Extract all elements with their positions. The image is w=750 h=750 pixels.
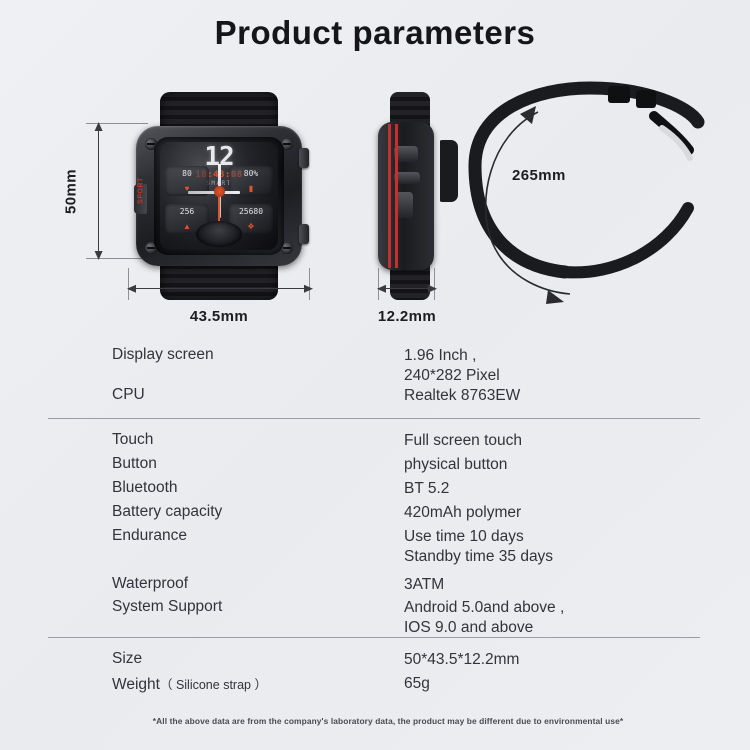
watch-case: SPORT 12 18:48:08 SMART 80 ♥ 80% ▮ [136,126,302,266]
dim-arrows-height [92,120,106,262]
spec-value: BT 5.2 [404,479,449,499]
spec-value: Realtek 8763EW [404,386,520,406]
spec-value: 1.96 Inch , 240*282 Pixel [404,346,500,387]
spec-label: Button [112,455,157,473]
product-illustration: 50mm SPORT 12 18:48:08 SMART [0,80,750,340]
watch-side-view [378,92,438,300]
watch-hand-hub [214,186,225,197]
product-parameters-page: Product parameters 50mm SPORT [0,0,750,750]
spec-label: Waterproof [112,575,188,593]
watch-button-bottom-right [299,224,309,244]
page-title: Product parameters [0,14,750,52]
spec-value: Use time 10 days Standby time 35 days [404,527,553,568]
spec-label: Size [112,650,142,668]
dimension-height-label: 50mm [63,162,80,222]
spec-label-weight: Weight（ Silicone strap ） [112,674,267,694]
spec-label: Display screen [112,346,214,364]
spec-value: 50*43.5*12.2mm [404,650,519,670]
watch-screen: 12 18:48:08 SMART 80 ♥ 80% ▮ 256 [160,142,278,250]
svg-text:265mm: 265mm [512,167,566,184]
spec-label: Battery capacity [112,503,222,521]
spec-label: System Support [112,598,222,616]
section-divider [48,637,700,638]
spec-label: Touch [112,431,153,449]
watch-side-stripe-2 [395,124,398,268]
watch-side-body [378,122,434,270]
watch-bezel: 12 18:48:08 SMART 80 ♥ 80% ▮ 256 [154,137,284,255]
watch-side-stripe-1 [388,124,391,268]
spec-value: Full screen touch [404,431,522,451]
spec-label: Endurance [112,527,187,545]
spec-value: 420mAh polymer [404,503,521,523]
strap-loop-illustration: 265mm [440,80,740,340]
spec-label: Bluetooth [112,479,178,497]
spec-value: 65g [404,674,430,694]
spec-value: physical button [404,455,507,475]
dimension-width-label: 43.5mm [128,308,310,325]
tile-value: 25680 [229,207,273,216]
section-divider [48,418,700,419]
dim-arrows-thickness [374,282,440,296]
watch-sport-text: SPORT [138,173,145,209]
dim-arrows-width [124,282,316,296]
tile-value: 256 [165,207,209,216]
spec-label: CPU [112,386,145,404]
spec-label-suffix: （ Silicone strap ） [160,678,267,692]
watch-front-view: SPORT 12 18:48:08 SMART 80 ♥ 80% ▮ [128,92,310,300]
spec-label: Weight [112,676,160,693]
watch-subdial [196,221,242,247]
spec-value: 3ATM [404,575,444,595]
spec-value: Android 5.0and above , IOS 9.0 and above [404,598,564,639]
footnote-disclaimer: *All the above data are from the company… [88,716,688,726]
tile-value: 80% [229,169,273,178]
tile-value: 80 [165,169,209,178]
watch-button-top-right [299,148,309,168]
